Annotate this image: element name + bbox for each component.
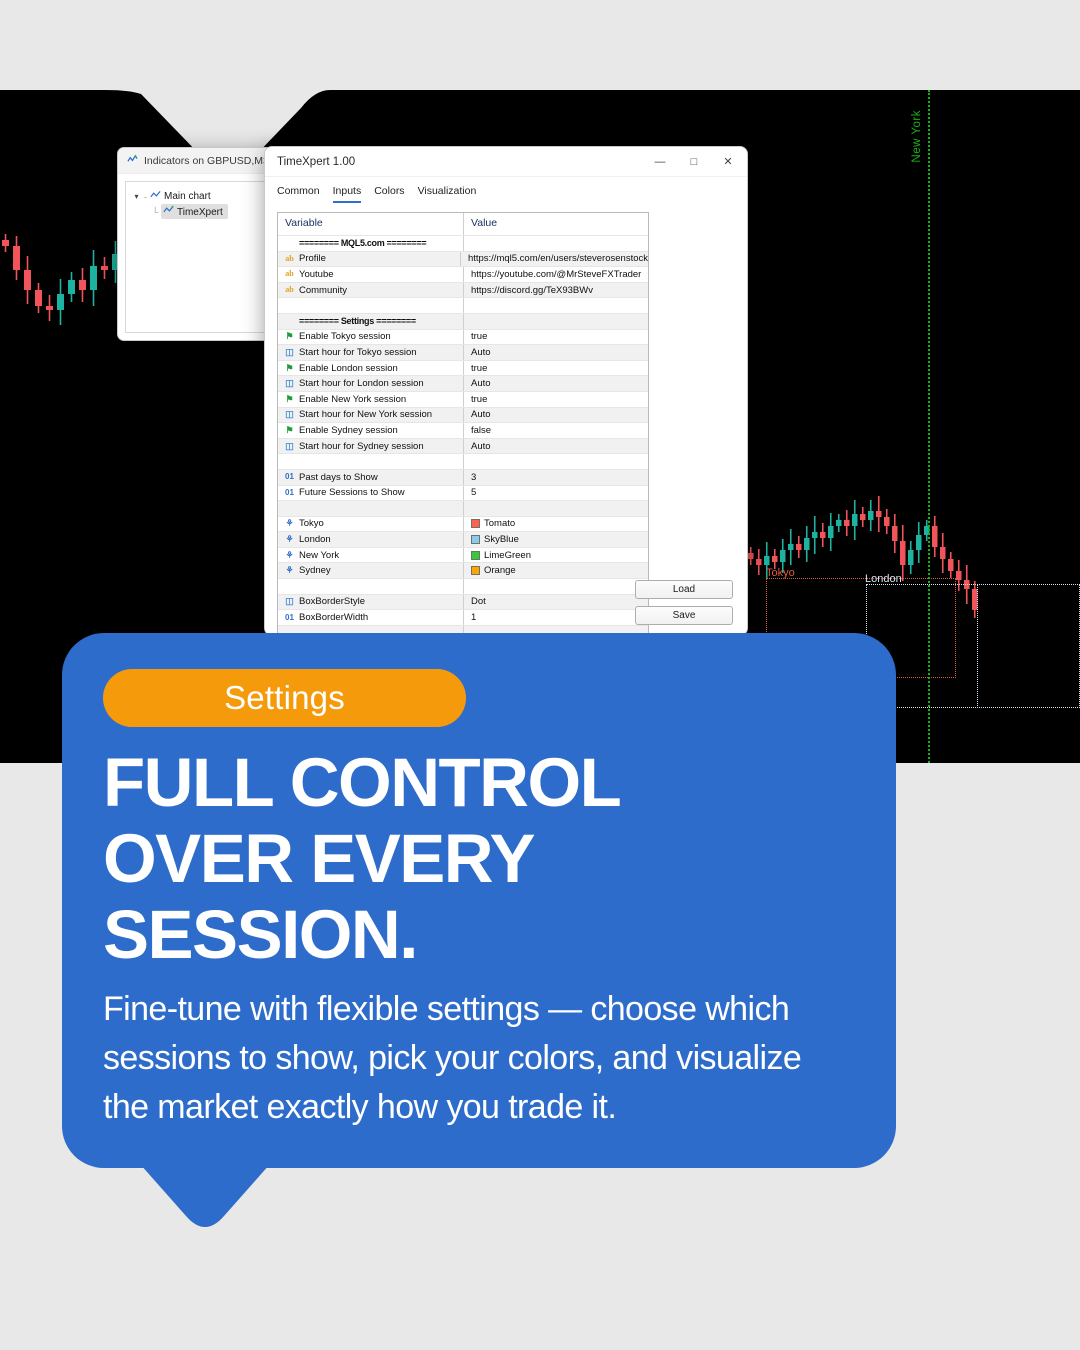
- settings-row-value[interactable]: 5: [464, 486, 648, 501]
- close-icon[interactable]: ✕: [711, 148, 745, 176]
- settings-row-variable: ======== MQL5.com ========: [278, 236, 464, 251]
- settings-row-variable: ◫Start hour for New York session: [278, 408, 464, 423]
- indicators-window-title: Indicators on GBPUSD,M30: [144, 155, 275, 167]
- minimize-icon[interactable]: —: [643, 148, 677, 176]
- settings-row-value[interactable]: [464, 298, 648, 313]
- settings-row-variable: 01Future Sessions to Show: [278, 486, 464, 501]
- settings-row-variable: [278, 298, 464, 313]
- tree-connector: -: [144, 192, 147, 202]
- enum-type-icon: ◫: [284, 442, 295, 451]
- settings-row-value[interactable]: false: [464, 423, 648, 438]
- maximize-icon[interactable]: □: [677, 148, 711, 176]
- settings-row[interactable]: ◫Start hour for Tokyo sessionAuto: [278, 344, 648, 360]
- settings-row-value-text: 5: [471, 487, 476, 498]
- poster-canvas: Tokyo London New York Indicators on GBPU…: [0, 0, 1080, 1350]
- settings-row-variable: ⚘London: [278, 532, 464, 547]
- settings-row-value[interactable]: https://youtube.com/@MrSteveFXTrader: [464, 267, 648, 282]
- settings-row-value-text: true: [471, 363, 487, 374]
- boolean-flag-icon: ⚑: [284, 395, 295, 404]
- settings-row-value[interactable]: https://discord.gg/TeX93BWv: [464, 283, 648, 298]
- settings-row-value[interactable]: Auto: [464, 376, 648, 391]
- settings-row-label: Start hour for Sydney session: [299, 441, 424, 452]
- settings-row-label: BoxBorderWidth: [299, 612, 368, 623]
- settings-row-value-text: Auto: [471, 347, 491, 358]
- settings-row[interactable]: ⚑Enable New York sessiontrue: [278, 391, 648, 407]
- column-header-variable: Variable: [278, 213, 464, 235]
- settings-row-value[interactable]: Dot: [464, 595, 648, 610]
- settings-row-label: Sydney: [299, 565, 331, 576]
- settings-row[interactable]: ◫BoxBorderStyleDot: [278, 594, 648, 610]
- settings-row-label: Enable Tokyo session: [299, 331, 391, 342]
- settings-row-label: Community: [299, 285, 347, 296]
- settings-row[interactable]: ⚑Enable Tokyo sessiontrue: [278, 329, 648, 345]
- color-swatch: [471, 566, 480, 575]
- settings-row[interactable]: ◫Start hour for London sessionAuto: [278, 375, 648, 391]
- settings-row-variable: ⚑Enable Sydney session: [278, 423, 464, 438]
- settings-row-value-text: Tomato: [484, 518, 515, 529]
- color-type-icon: ⚘: [284, 535, 295, 544]
- settings-row[interactable]: abCommunityhttps://discord.gg/TeX93BWv: [278, 282, 648, 298]
- settings-row-variable: ⚘New York: [278, 548, 464, 563]
- string-type-icon: ab: [284, 286, 295, 294]
- settings-row[interactable]: 01Future Sessions to Show5: [278, 485, 648, 501]
- settings-row-label: New York: [299, 550, 339, 561]
- settings-row-value[interactable]: Auto: [464, 345, 648, 360]
- settings-badge: Settings: [103, 669, 466, 727]
- settings-row-value[interactable]: [464, 454, 648, 469]
- chart-line-icon: [150, 190, 161, 203]
- settings-row-value[interactable]: true: [464, 392, 648, 407]
- settings-row-value-text: true: [471, 331, 487, 342]
- settings-row-value[interactable]: SkyBlue: [464, 532, 648, 547]
- settings-row-variable: 01Past days to Show: [278, 470, 464, 485]
- tree-item-timexpert[interactable]: └ TimeXpert: [132, 204, 278, 219]
- settings-row-variable: [278, 454, 464, 469]
- settings-row-value[interactable]: [464, 314, 648, 329]
- session-box-newyork: [965, 584, 1080, 708]
- settings-row[interactable]: ⚘LondonSkyBlue: [278, 531, 648, 547]
- settings-row-value-text: https://mql5.com/en/users/steverosenstoc…: [468, 253, 648, 264]
- settings-row-label: BoxBorderStyle: [299, 596, 365, 607]
- dialog-titlebar: TimeXpert 1.00 — □ ✕: [265, 147, 747, 177]
- settings-row-value[interactable]: Tomato: [464, 517, 648, 532]
- settings-row-variable: [278, 579, 464, 594]
- settings-row-variable: abYoutube: [278, 267, 464, 282]
- color-swatch: [471, 519, 480, 528]
- settings-row[interactable]: abYoutubehttps://youtube.com/@MrSteveFXT…: [278, 266, 648, 282]
- settings-row-value[interactable]: 3: [464, 470, 648, 485]
- settings-row-value-text: SkyBlue: [484, 534, 519, 545]
- integer-type-icon: 01: [284, 614, 295, 622]
- settings-row-value[interactable]: true: [464, 361, 648, 376]
- dialog-title: TimeXpert 1.00: [277, 156, 643, 168]
- settings-row-variable: abCommunity: [278, 283, 464, 298]
- settings-row-variable: ◫Start hour for Tokyo session: [278, 345, 464, 360]
- settings-row-value[interactable]: Auto: [464, 439, 648, 454]
- settings-row[interactable]: ◫Start hour for Sydney sessionAuto: [278, 438, 648, 454]
- settings-row-label: Past days to Show: [299, 472, 378, 483]
- tree-item-label: TimeXpert: [177, 207, 223, 218]
- settings-row-value[interactable]: [464, 501, 648, 516]
- settings-row-value-text: Dot: [471, 596, 486, 607]
- tree-connector: └: [152, 207, 158, 217]
- boolean-flag-icon: ⚑: [284, 426, 295, 435]
- settings-row[interactable]: ⚘TokyoTomato: [278, 516, 648, 532]
- settings-row-label: Start hour for New York session: [299, 409, 432, 420]
- tab-colors[interactable]: Colors: [374, 185, 404, 203]
- settings-row[interactable]: abProfilehttps://mql5.com/en/users/steve…: [278, 251, 648, 267]
- settings-row-variable: ⚘Sydney: [278, 563, 464, 578]
- settings-row-value[interactable]: Auto: [464, 408, 648, 423]
- settings-row-label: Enable London session: [299, 363, 398, 374]
- settings-row-value-text: 3: [471, 472, 476, 483]
- settings-row-value-text: Auto: [471, 441, 491, 452]
- settings-row-value-text: Auto: [471, 378, 491, 389]
- settings-row-value-text: Orange: [484, 565, 516, 576]
- settings-row-label: Enable Sydney session: [299, 425, 398, 436]
- settings-row-value[interactable]: [464, 579, 648, 594]
- timexpert-settings-dialog[interactable]: TimeXpert 1.00 — □ ✕ Common Inputs Color…: [264, 146, 748, 636]
- settings-row-label: Enable New York session: [299, 394, 406, 405]
- chevron-down-icon[interactable]: ▾: [132, 192, 141, 201]
- settings-row-value-text: LimeGreen: [484, 550, 531, 561]
- boolean-flag-icon: ⚑: [284, 364, 295, 373]
- tab-visualization[interactable]: Visualization: [418, 185, 477, 203]
- settings-row-variable: ⚑Enable London session: [278, 361, 464, 376]
- load-button[interactable]: Load: [635, 580, 733, 599]
- settings-row[interactable]: ⚘New YorkLimeGreen: [278, 547, 648, 563]
- settings-row[interactable]: ======== MQL5.com ========: [278, 235, 648, 251]
- settings-row[interactable]: [278, 500, 648, 516]
- settings-row-variable: ◫Start hour for London session: [278, 376, 464, 391]
- session-label-newyork: New York: [911, 110, 923, 163]
- settings-row[interactable]: ◫Start hour for New York sessionAuto: [278, 407, 648, 423]
- tab-common[interactable]: Common: [277, 185, 320, 203]
- settings-badge-label: Settings: [224, 679, 345, 717]
- promo-subcopy: Fine-tune with flexible settings — choos…: [103, 985, 833, 1132]
- color-swatch: [471, 551, 480, 560]
- string-type-icon: ab: [284, 255, 295, 263]
- settings-row-variable: [278, 501, 464, 516]
- settings-row-value-text: 1: [471, 612, 476, 623]
- grid-body[interactable]: ======== MQL5.com ========abProfilehttps…: [278, 235, 648, 636]
- dialog-tabs[interactable]: Common Inputs Colors Visualization: [265, 177, 747, 203]
- column-header-value: Value: [464, 213, 648, 235]
- settings-row-variable: ⚑Enable Tokyo session: [278, 330, 464, 345]
- enum-type-icon: ◫: [284, 348, 295, 357]
- settings-row-label: Youtube: [299, 269, 334, 280]
- settings-row-label: ======== Settings ========: [299, 316, 416, 326]
- settings-row-value[interactable]: LimeGreen: [464, 548, 648, 563]
- settings-row-variable: ⚘Tokyo: [278, 517, 464, 532]
- save-button[interactable]: Save: [635, 606, 733, 625]
- enum-type-icon: ◫: [284, 410, 295, 419]
- string-type-icon: ab: [284, 270, 295, 278]
- settings-row-label: Future Sessions to Show: [299, 487, 405, 498]
- color-type-icon: ⚘: [284, 551, 295, 560]
- boolean-flag-icon: ⚑: [284, 332, 295, 341]
- color-type-icon: ⚘: [284, 519, 295, 528]
- enum-type-icon: ◫: [284, 379, 295, 388]
- promo-card-tail: [140, 1160, 270, 1228]
- settings-row[interactable]: ⚘SydneyOrange: [278, 562, 648, 578]
- settings-row[interactable]: 01Past days to Show3: [278, 469, 648, 485]
- tree-item-selected[interactable]: TimeXpert: [161, 204, 227, 219]
- newyork-session-divider: [928, 90, 930, 763]
- settings-row[interactable]: [278, 297, 648, 313]
- settings-row-variable: ◫BoxBorderStyle: [278, 595, 464, 610]
- settings-row-variable: ⚑Enable New York session: [278, 392, 464, 407]
- settings-row-label: Tokyo: [299, 518, 324, 529]
- integer-type-icon: 01: [284, 473, 295, 481]
- settings-row-value-text: false: [471, 425, 491, 436]
- settings-row[interactable]: [278, 453, 648, 469]
- dialog-button-column[interactable]: Load Save: [635, 580, 733, 625]
- settings-row-value[interactable]: 1: [464, 610, 648, 625]
- integer-type-icon: 01: [284, 489, 295, 497]
- settings-row-value-text: true: [471, 394, 487, 405]
- color-type-icon: ⚘: [284, 566, 295, 575]
- settings-row-variable: 01BoxBorderWidth: [278, 610, 464, 625]
- indicator-icon: [127, 152, 138, 170]
- settings-row-label: Start hour for Tokyo session: [299, 347, 417, 358]
- settings-row-value[interactable]: true: [464, 330, 648, 345]
- settings-row-variable: ======== Settings ========: [278, 314, 464, 329]
- settings-row[interactable]: ⚑Enable London sessiontrue: [278, 360, 648, 376]
- settings-row[interactable]: 01BoxBorderWidth1: [278, 609, 648, 625]
- settings-row-variable: abProfile: [278, 252, 461, 267]
- indicators-tree[interactable]: ▾ - Main chart └ TimeXpert: [125, 181, 285, 333]
- settings-row-label: ======== MQL5.com ========: [299, 238, 426, 248]
- color-swatch: [471, 535, 480, 544]
- settings-row-value-text: Auto: [471, 409, 491, 420]
- settings-row-value-text: https://discord.gg/TeX93BWv: [471, 285, 593, 296]
- tab-inputs[interactable]: Inputs: [333, 185, 362, 203]
- tree-item-main-chart[interactable]: ▾ - Main chart: [132, 189, 278, 204]
- enum-type-icon: ◫: [284, 597, 295, 606]
- settings-row-variable: ◫Start hour for Sydney session: [278, 439, 464, 454]
- settings-row-value[interactable]: Orange: [464, 563, 648, 578]
- settings-row-label: Start hour for London session: [299, 378, 424, 389]
- settings-row-value[interactable]: https://mql5.com/en/users/steverosenstoc…: [461, 252, 648, 267]
- indicator-icon: [163, 207, 177, 218]
- settings-row[interactable]: ⚑Enable Sydney sessionfalse: [278, 422, 648, 438]
- settings-row-value[interactable]: [464, 236, 648, 251]
- grid-header: Variable Value: [278, 213, 648, 235]
- settings-row-label: London: [299, 534, 331, 545]
- promo-headline: FULL CONTROL OVER EVERY SESSION.: [103, 745, 803, 973]
- settings-row-value-text: https://youtube.com/@MrSteveFXTrader: [471, 269, 641, 280]
- settings-row-label: Profile: [299, 253, 326, 264]
- tree-item-label: Main chart: [164, 191, 211, 202]
- settings-row[interactable]: [278, 578, 648, 594]
- settings-row[interactable]: ======== Settings ========: [278, 313, 648, 329]
- inputs-grid[interactable]: Variable Value ======== MQL5.com =======…: [277, 212, 649, 636]
